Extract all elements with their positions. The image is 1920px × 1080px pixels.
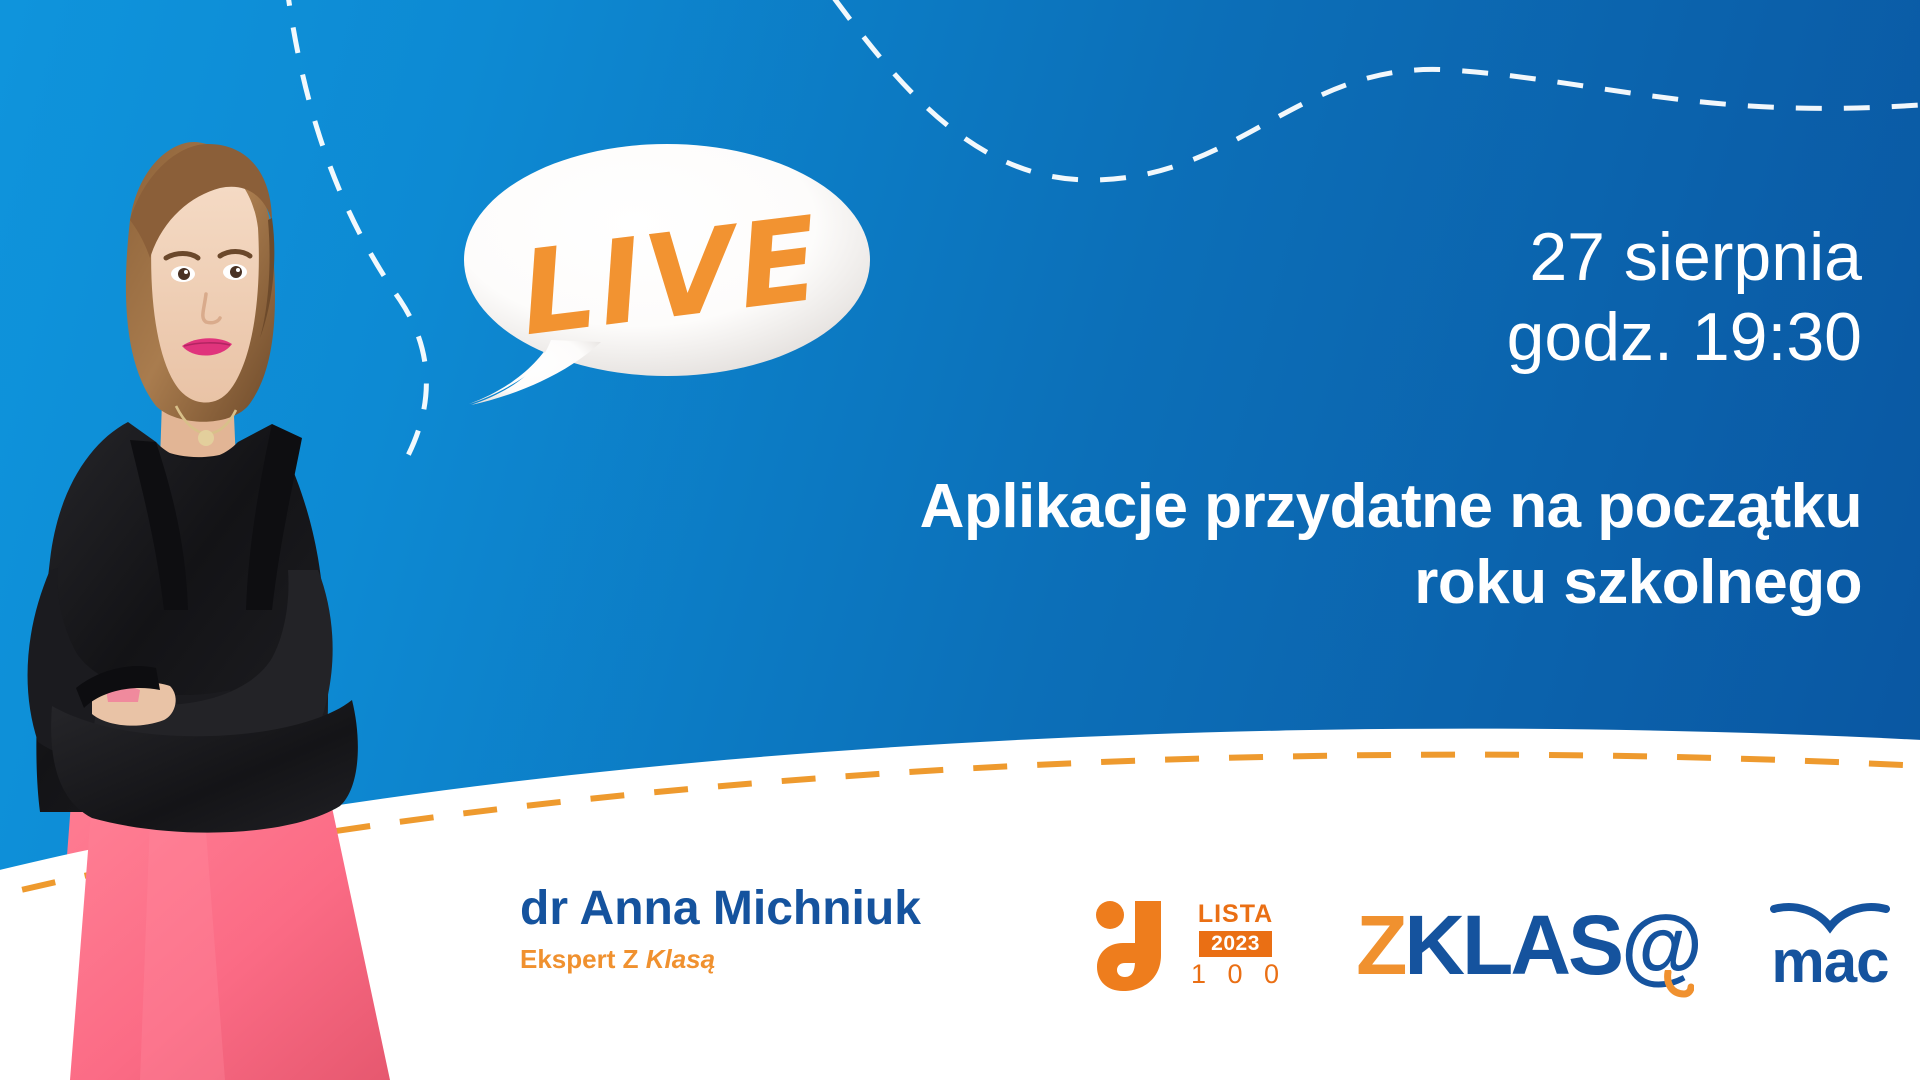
lista-text-group: LISTA 2023 1 0 0 bbox=[1185, 902, 1286, 988]
zklasa-ogonek-icon bbox=[1664, 970, 1694, 1004]
logo-lista-100: LISTA 2023 1 0 0 bbox=[1095, 890, 1286, 1000]
mac-wordmark: mac bbox=[1771, 933, 1888, 990]
logo-zklasa: ZKLAS@ bbox=[1356, 890, 1700, 1000]
lista-number: 1 0 0 bbox=[1185, 961, 1286, 988]
zklasa-wordmark: ZKLAS@ bbox=[1356, 903, 1700, 987]
zklasa-z: Z bbox=[1356, 898, 1404, 992]
presenter-role-prefix: Ekspert Z bbox=[520, 944, 646, 974]
lista-year: 2023 bbox=[1199, 931, 1272, 957]
presenter-name: dr Anna Michniuk bbox=[520, 884, 1040, 934]
logo-row: LISTA 2023 1 0 0 ZKLAS@ mac bbox=[1095, 880, 1890, 1010]
lista-j-mark-icon bbox=[1095, 897, 1171, 993]
presenter-block: dr Anna Michniuk Ekspert Z Klasą bbox=[520, 884, 1040, 975]
presenter-role: Ekspert Z Klasą bbox=[520, 944, 1040, 975]
banner-root: LIVE bbox=[0, 0, 1920, 1080]
logo-mac: mac bbox=[1770, 890, 1890, 1000]
presenter-role-emphasis: Klasą bbox=[646, 944, 715, 974]
zklasa-main: KLAS@ bbox=[1404, 898, 1700, 992]
lista-word: LISTA bbox=[1198, 902, 1273, 927]
